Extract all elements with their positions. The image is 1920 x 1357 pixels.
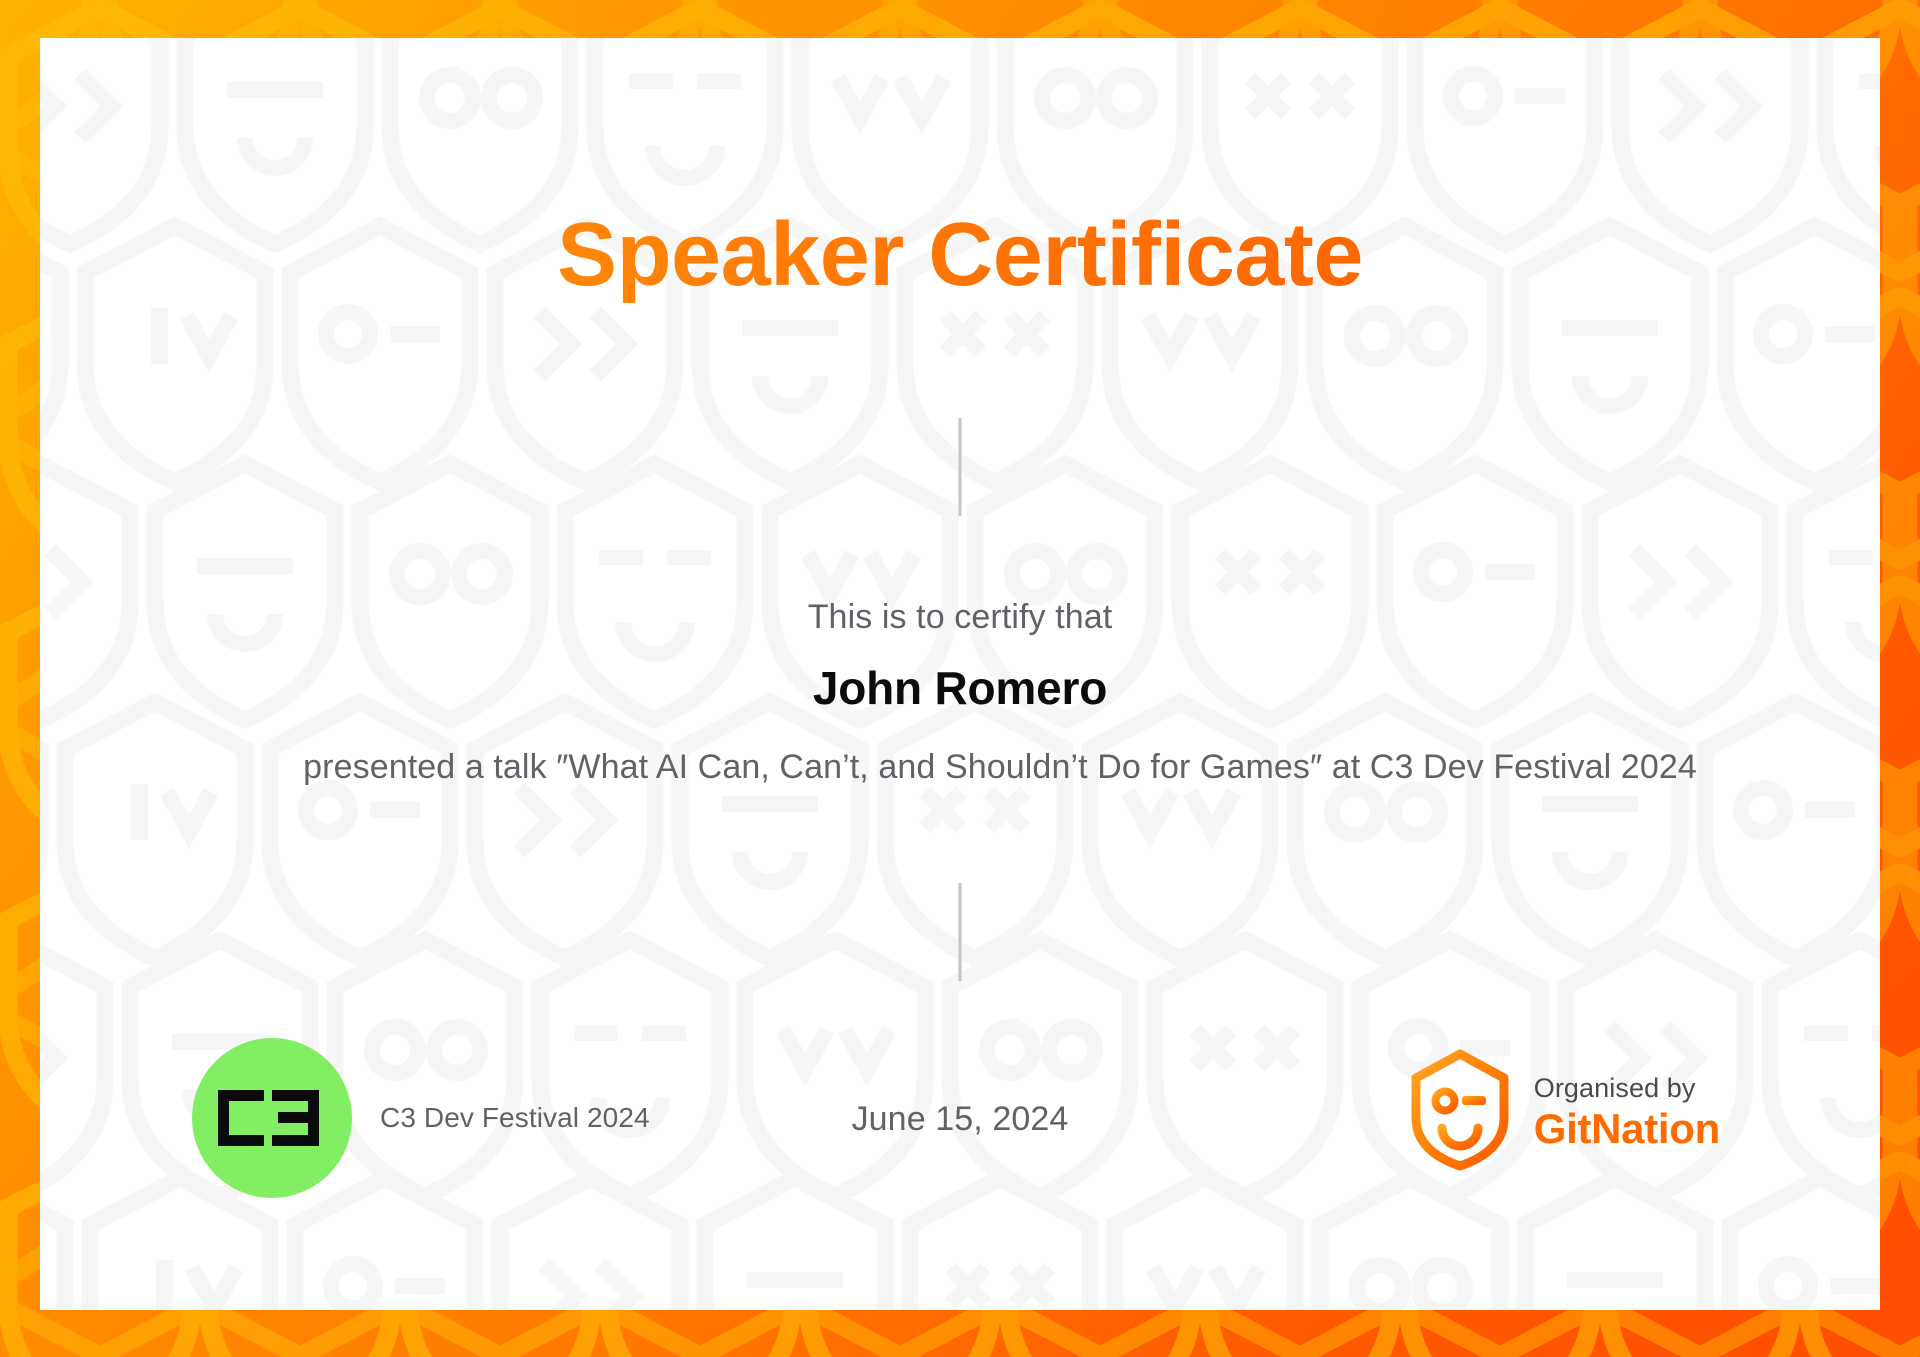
divider-top xyxy=(959,418,962,516)
certificate-card: Speaker Certificate This is to certify t… xyxy=(40,38,1880,1310)
gitnation-shield-mask-icon xyxy=(1408,1048,1512,1177)
talk-description: presented a talk ″What AI Can, Can’t, an… xyxy=(295,743,1705,792)
organiser-block: Organised by GitNation xyxy=(1408,1048,1720,1177)
organiser-name: GitNation xyxy=(1534,1106,1720,1152)
divider-bottom xyxy=(959,883,962,981)
page-title: Speaker Certificate xyxy=(40,208,1880,303)
certificate-frame: Speaker Certificate This is to certify t… xyxy=(0,0,1920,1357)
organised-by-label: Organised by xyxy=(1534,1073,1720,1104)
certificate-footer: C3 Dev Festival 2024 June 15, 2024 xyxy=(40,1038,1880,1218)
certify-statement: This is to certify that xyxy=(40,598,1880,637)
recipient-name: John Romero xyxy=(40,661,1880,715)
